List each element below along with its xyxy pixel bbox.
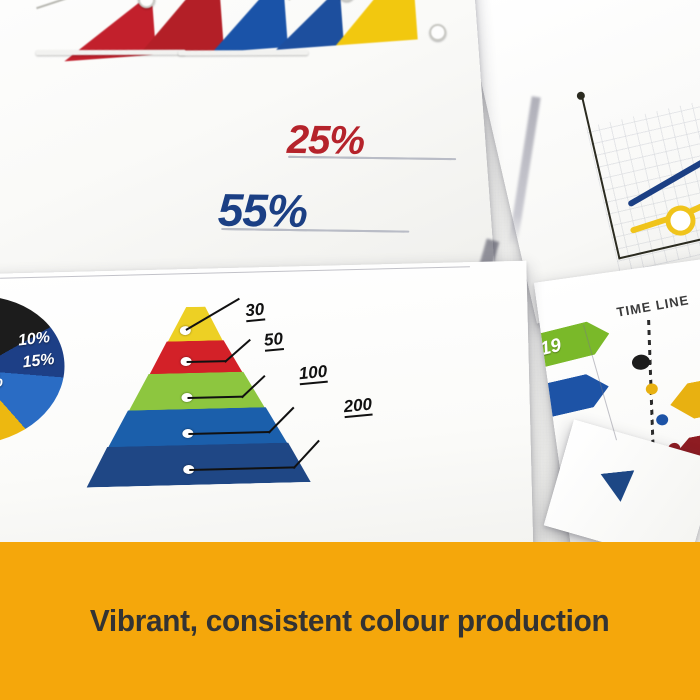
line-chart-y-cap: [576, 91, 586, 101]
pyramid-label-50: 50: [263, 330, 284, 352]
timeline-node-yellow: [645, 383, 658, 396]
sheet-top-left-infographic: 25%: [0, 0, 495, 306]
area-node-6: [429, 23, 447, 41]
pyramid-band-red: [56, 338, 327, 379]
sheet-lower-left-infographic: 35% 10% 15% 60% 0% 30 50: [0, 261, 534, 576]
area-peak-5: [330, 0, 418, 45]
pyramid-leader-200b: [293, 440, 320, 469]
stat-body-55: [221, 228, 411, 231]
timeline-title: TIME LINE: [616, 292, 691, 319]
timeline-node-blue: [655, 414, 668, 427]
caption-bar: Vibrant, consistent colour production: [0, 542, 700, 700]
pyramid-label-100: 100: [298, 363, 328, 386]
pyramid-label-200: 200: [343, 396, 373, 419]
pyramid-label-30: 30: [245, 301, 266, 323]
pie-label-15: 15%: [22, 351, 56, 372]
stat-body-25: [288, 156, 458, 158]
caption-text: Vibrant, consistent colour production: [90, 603, 610, 639]
area-axis-right: [178, 50, 308, 55]
line-chart-grid: [586, 82, 700, 273]
pyramid-band-green: [57, 370, 328, 415]
screenshot-root: 12: [0, 0, 700, 700]
pyramid-chart: 30 50 100 200: [55, 304, 329, 491]
pie-label-10: 10%: [17, 329, 51, 350]
pyramid-band-darkblue: [59, 442, 330, 489]
sawtooth-area-chart: [48, 0, 454, 72]
area-axis-left: [36, 50, 186, 56]
timeline-band-yellow: [667, 359, 700, 423]
